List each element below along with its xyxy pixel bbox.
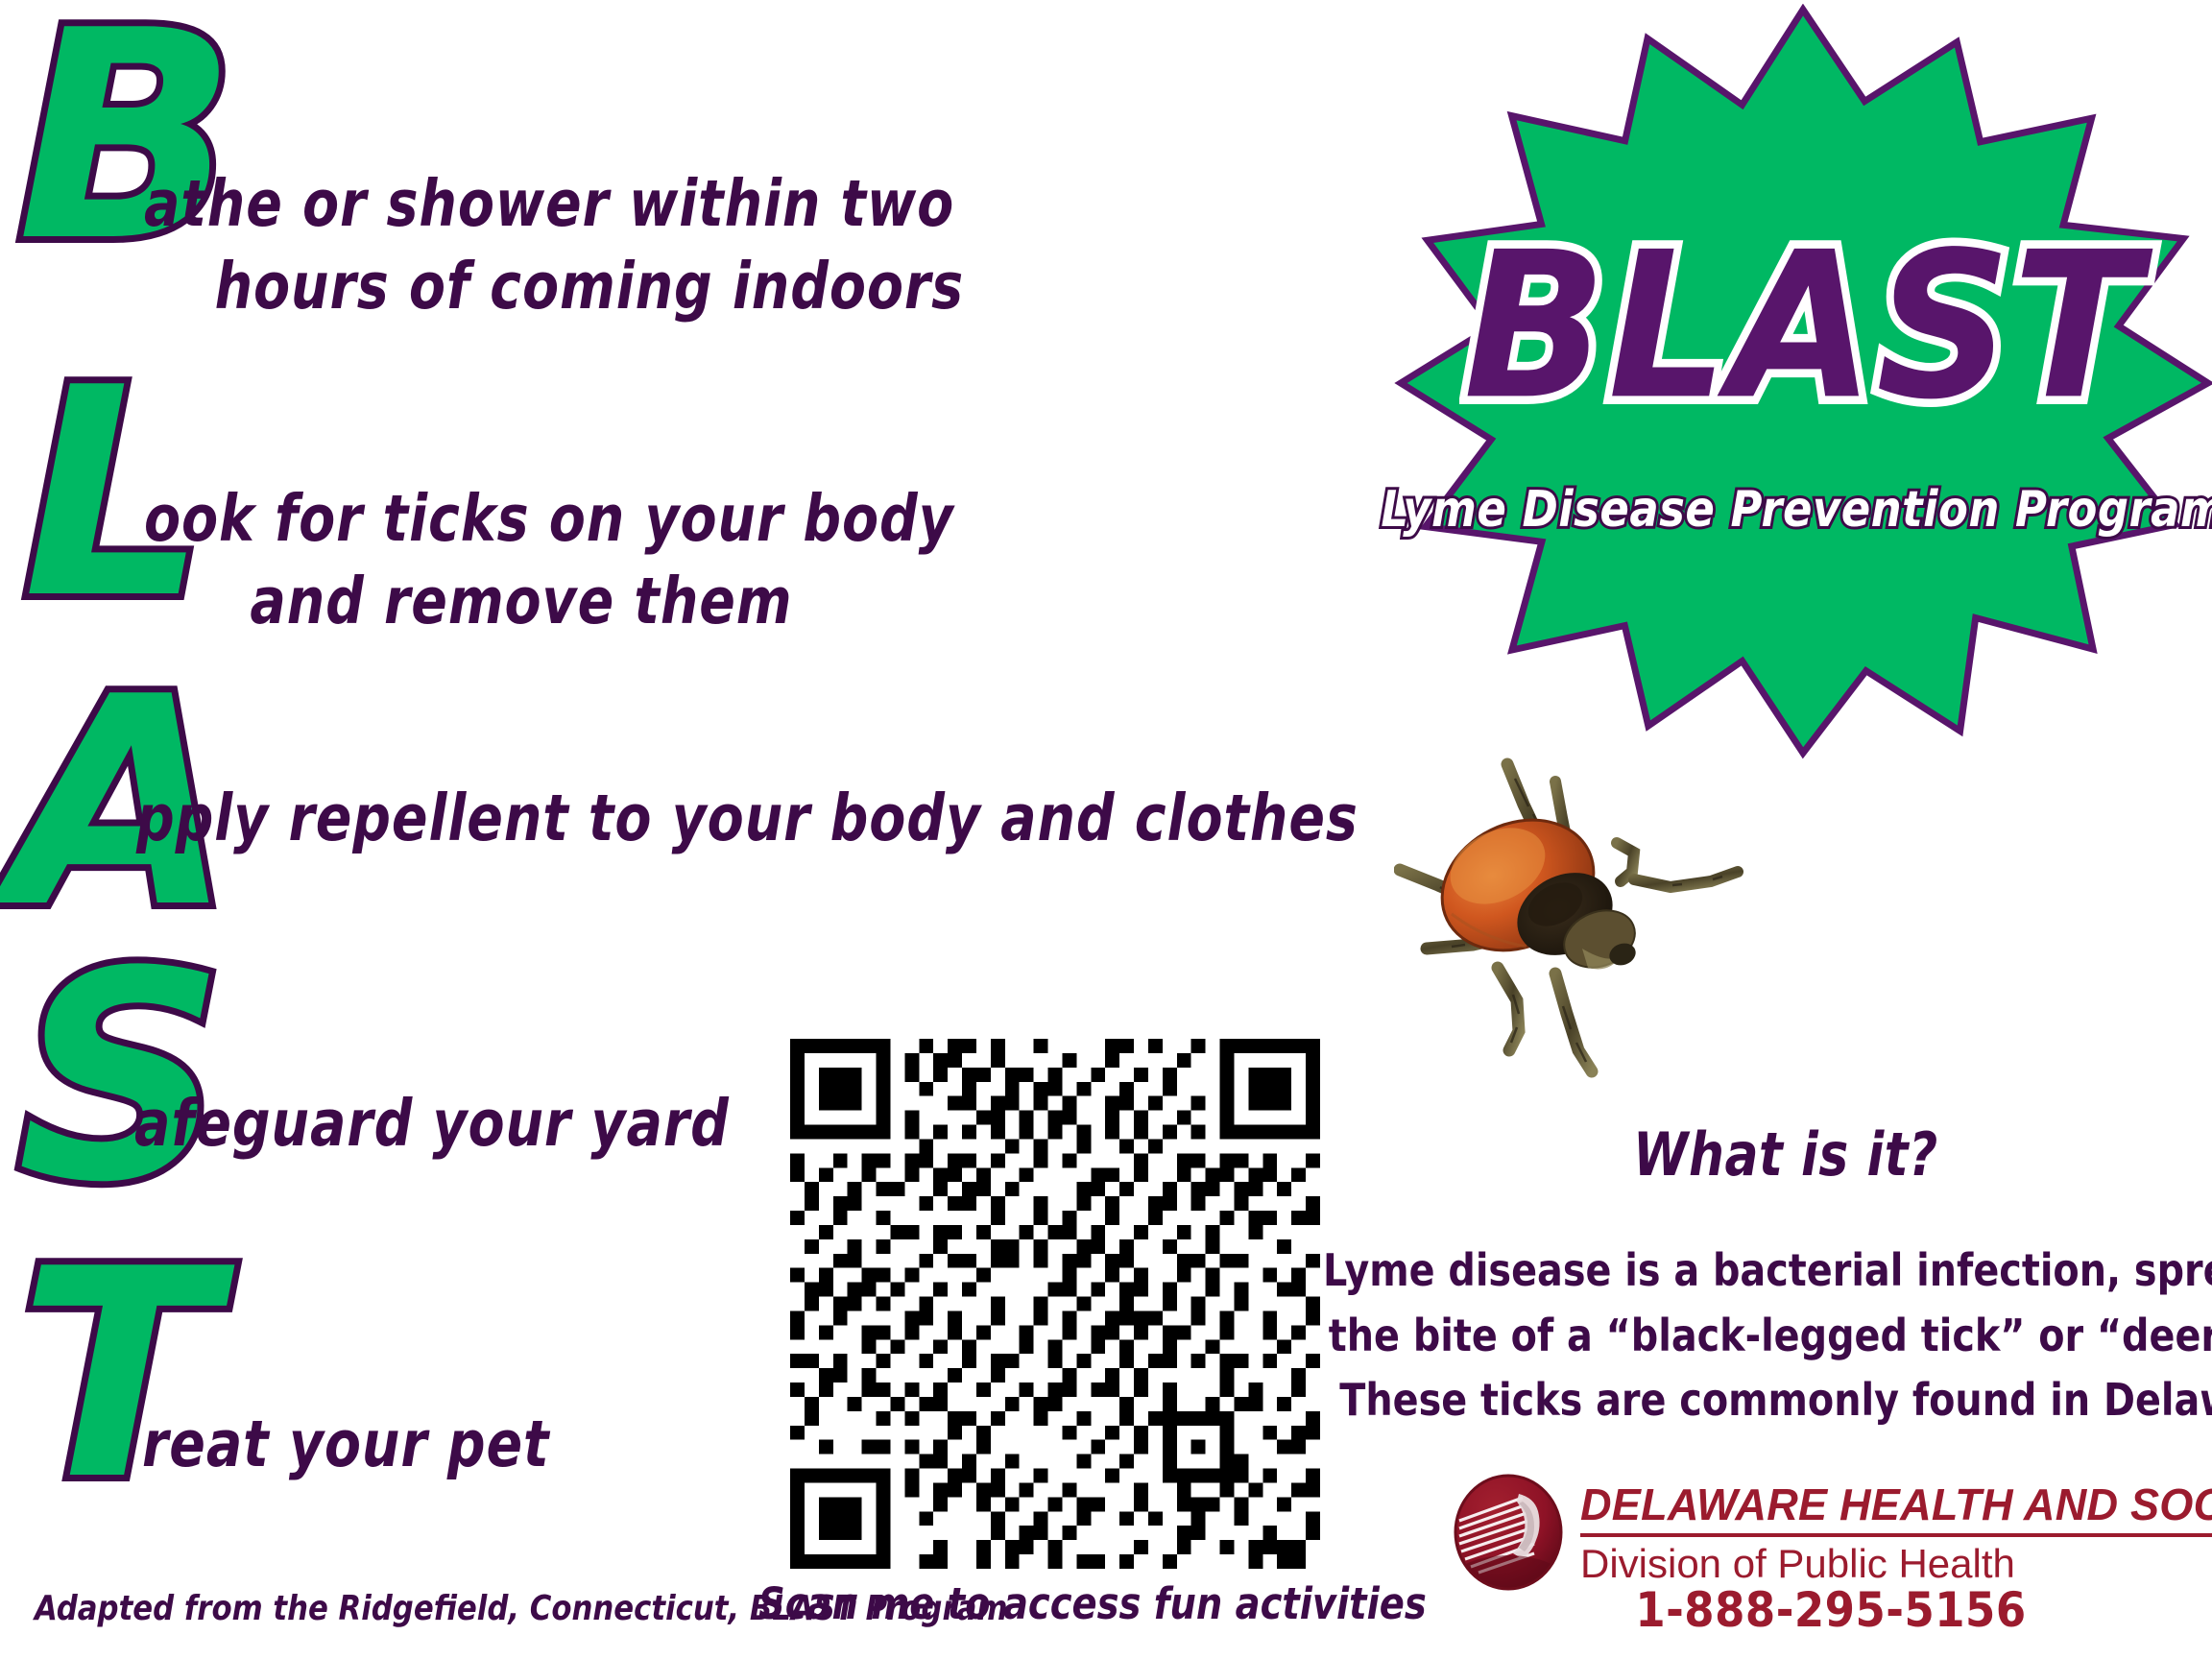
- acronym-text-safeguard: afeguard your yard: [134, 1083, 730, 1166]
- acronym-line: afeguard your yard: [134, 1083, 730, 1166]
- deer-tick-image: [1394, 726, 1759, 1083]
- dhss-division-name: Division of Public Health: [1580, 1543, 2212, 1585]
- acronym-line: reat your pet: [142, 1404, 549, 1486]
- blast-logo-badge: BLAST Lyme Disease Prevention Program: [1390, 4, 2212, 762]
- acronym-text-bathe: athe or shower within two hours of comin…: [144, 163, 964, 328]
- dhss-seal-icon: [1452, 1473, 1565, 1592]
- acronym-text-treat: reat your pet: [142, 1404, 549, 1486]
- paragraph-line: Lyme disease is a bacterial infection, s…: [1323, 1238, 2176, 1304]
- acronym-line: ook for ticks on your body: [144, 478, 954, 561]
- footer-credit: Adapted from the Ridgefield, Connecticut…: [35, 1592, 1007, 1626]
- acronym-line: and remove them: [144, 561, 954, 643]
- dhss-agency-name: DELAWARE HEALTH AND SOCIAL SERVICES: [1580, 1481, 2212, 1527]
- what-is-it-paragraph: Lyme disease is a bacterial infection, s…: [1323, 1238, 2212, 1433]
- acronym-text-apply: pply repellent to your body and clothes: [136, 778, 1358, 860]
- acronym-line: hours of coming indoors: [144, 246, 964, 328]
- acronym-line: pply repellent to your body and clothes: [136, 778, 1358, 860]
- qr-code[interactable]: [790, 1039, 1320, 1569]
- delaware-seal-icon: [1452, 1473, 1565, 1592]
- acronym-line: athe or shower within two: [144, 163, 964, 246]
- what-is-it-heading: What is it?: [1402, 1125, 2170, 1185]
- dhss-phone-number[interactable]: 1-888-295-5156: [1452, 1586, 2210, 1634]
- acronym-text-look: ook for ticks on your body and remove th…: [144, 478, 954, 643]
- paragraph-line: These ticks are commonly found in Delawa…: [1323, 1368, 2176, 1433]
- dhss-logo: DELAWARE HEALTH AND SOCIAL SERVICES Divi…: [1452, 1471, 2210, 1594]
- paragraph-line: the bite of a “black-legged tick” or “de…: [1323, 1304, 2176, 1369]
- tick-illustration-icon: [1394, 726, 1759, 1083]
- dhss-divider-rule: [1580, 1533, 2212, 1537]
- poster-canvas: B athe or shower within two hours of com…: [0, 0, 2212, 1659]
- dhss-wordmark: DELAWARE HEALTH AND SOCIAL SERVICES Divi…: [1565, 1479, 2212, 1584]
- starburst-icon: [1390, 4, 2212, 762]
- qr-code-canvas[interactable]: [790, 1039, 1320, 1569]
